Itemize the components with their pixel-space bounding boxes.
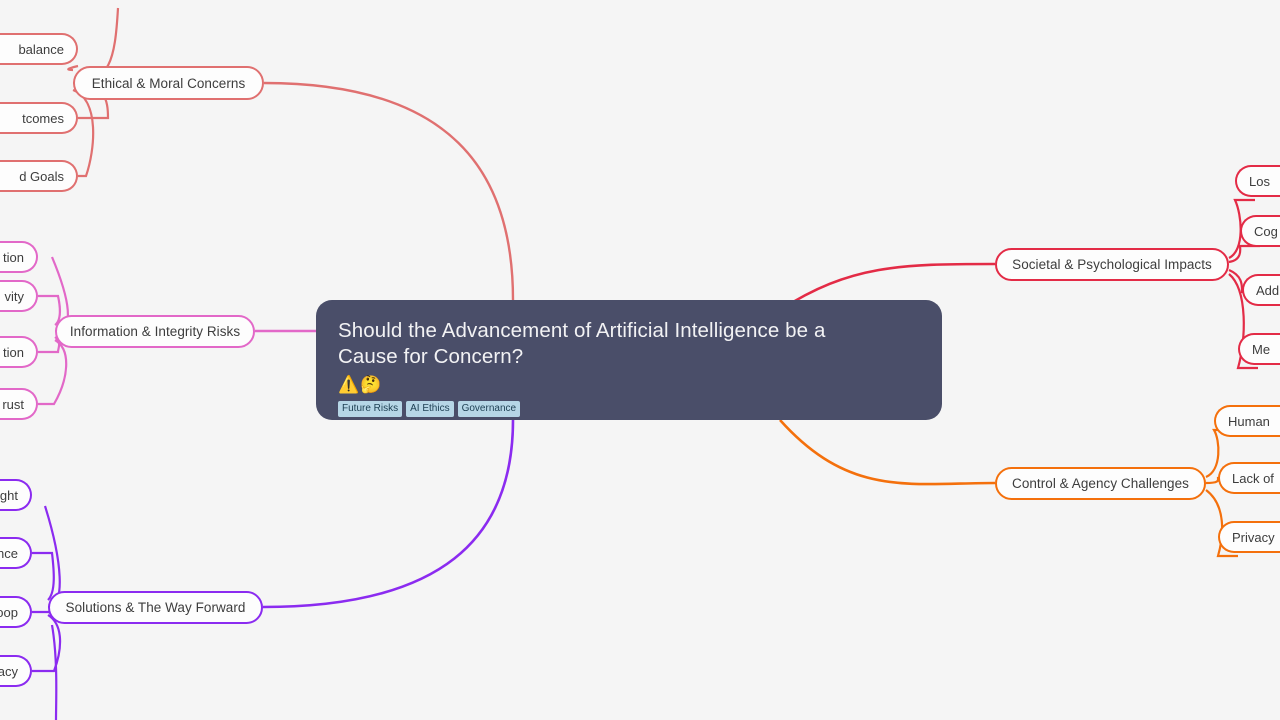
leaf-node-societal-1[interactable]: Cog <box>1240 215 1280 247</box>
leaf-label-ethical-2: d Goals <box>19 169 64 184</box>
leaf-node-control-2[interactable]: Privacy <box>1218 521 1280 553</box>
leaf-node-ethical-1[interactable]: tcomes <box>0 102 78 134</box>
leaf-node-solutions-1[interactable]: nce <box>0 537 32 569</box>
leaf-node-societal-2[interactable]: Add <box>1242 274 1280 306</box>
leaf-node-societal-0[interactable]: Los <box>1235 165 1280 197</box>
leaf-label-information-0: tion <box>3 250 24 265</box>
leaf-node-control-0[interactable]: Human <box>1214 405 1280 437</box>
branch-node-ethical[interactable]: Ethical & Moral Concerns <box>73 66 264 100</box>
edge-information-child-1 <box>38 296 60 325</box>
edge-central-ethical <box>264 83 513 300</box>
edge-societal-child-1 <box>1229 246 1260 262</box>
central-tag-list: Future Risks AI Ethics Governance <box>338 401 920 417</box>
edge-ethical-child-0b <box>68 66 78 70</box>
leaf-node-solutions-0[interactable]: ght <box>0 479 32 511</box>
branch-label-information: Information & Integrity Risks <box>70 324 240 339</box>
edge-central-solutions <box>263 420 513 607</box>
tag-ai-ethics[interactable]: AI Ethics <box>406 401 453 417</box>
leaf-label-societal-0: Los <box>1249 174 1270 189</box>
central-emoji: ⚠️🤔 <box>338 375 920 395</box>
branch-label-control: Control & Agency Challenges <box>1012 476 1189 491</box>
branch-node-solutions[interactable]: Solutions & The Way Forward <box>48 591 263 624</box>
leaf-label-societal-2: Add <box>1256 283 1279 298</box>
leaf-label-control-0: Human <box>1228 414 1270 429</box>
branch-label-solutions: Solutions & The Way Forward <box>66 600 246 615</box>
tag-governance[interactable]: Governance <box>458 401 520 417</box>
edge-solutions-child-3 <box>32 615 60 671</box>
tag-future-risks[interactable]: Future Risks <box>338 401 402 417</box>
leaf-label-solutions-3: acy <box>0 664 18 679</box>
edge-information-child-3 <box>38 340 66 404</box>
leaf-label-societal-3: Me <box>1252 342 1270 357</box>
leaf-node-ethical-2[interactable]: d Goals <box>0 160 78 192</box>
leaf-label-control-1: Lack of <box>1232 471 1274 486</box>
branch-node-information[interactable]: Information & Integrity Risks <box>55 315 255 348</box>
leaf-label-solutions-1: nce <box>0 546 18 561</box>
leaf-node-information-1[interactable]: vity <box>0 280 38 312</box>
leaf-node-ethical-0[interactable]: balance <box>0 33 78 65</box>
leaf-label-information-2: tion <box>3 345 24 360</box>
leaf-label-information-1: vity <box>5 289 25 304</box>
branch-node-control[interactable]: Control & Agency Challenges <box>995 467 1206 500</box>
leaf-node-control-1[interactable]: Lack of <box>1218 462 1280 494</box>
leaf-label-control-2: Privacy <box>1232 530 1275 545</box>
leaf-node-information-0[interactable]: tion <box>0 241 38 273</box>
central-node[interactable]: Should the Advancement of Artificial Int… <box>316 300 942 420</box>
leaf-label-ethical-1: tcomes <box>22 111 64 126</box>
branch-node-societal[interactable]: Societal & Psychological Impacts <box>995 248 1229 281</box>
edge-solutions-child-4 <box>52 625 56 720</box>
edge-ethical-child-2 <box>73 90 93 176</box>
leaf-node-societal-3[interactable]: Me <box>1238 333 1280 365</box>
mindmap-canvas: Should the Advancement of Artificial Int… <box>0 0 1280 720</box>
leaf-label-solutions-0: ght <box>0 488 18 503</box>
leaf-label-ethical-0: balance <box>18 42 64 57</box>
edge-solutions-child-1 <box>32 553 54 600</box>
leaf-node-solutions-2[interactable]: oop <box>0 596 32 628</box>
leaf-label-societal-1: Cog <box>1254 224 1278 239</box>
leaf-node-information-2[interactable]: tion <box>0 336 38 368</box>
leaf-label-solutions-2: oop <box>0 605 18 620</box>
branch-label-societal: Societal & Psychological Impacts <box>1012 257 1212 272</box>
branch-label-ethical: Ethical & Moral Concerns <box>92 76 246 91</box>
edge-central-control <box>780 420 995 484</box>
leaf-label-information-3: rust <box>2 397 24 412</box>
leaf-node-information-3[interactable]: rust <box>0 388 38 420</box>
central-title: Should the Advancement of Artificial Int… <box>338 318 883 370</box>
leaf-node-solutions-3[interactable]: acy <box>0 655 32 687</box>
